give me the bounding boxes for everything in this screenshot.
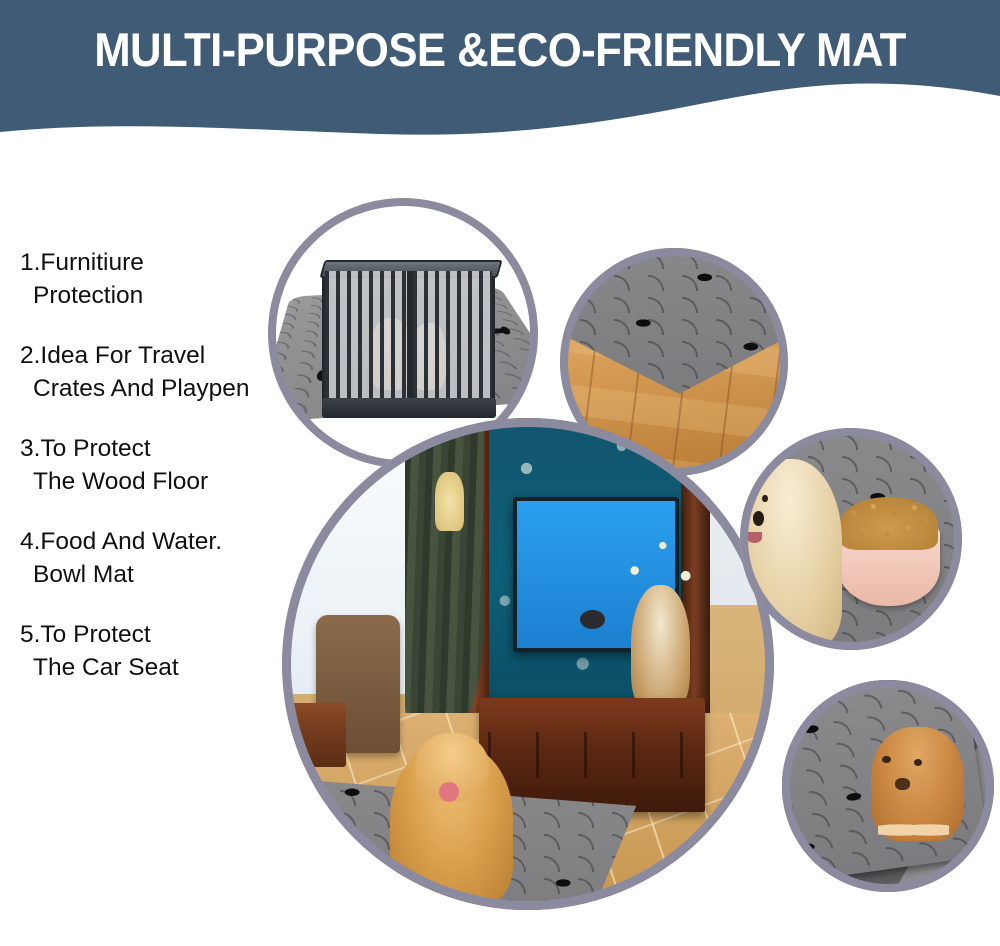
dogue-de-bordeaux-puppy [871, 727, 964, 841]
puppy-paws [878, 821, 949, 839]
dog-crate [322, 268, 495, 404]
car-seat-photo [782, 680, 994, 892]
puppy-eye-right [914, 759, 922, 766]
tv-screen-object [580, 610, 605, 629]
dog-nose [753, 511, 764, 526]
vase [631, 585, 690, 713]
tv-console [479, 698, 705, 811]
wall-lamp [435, 472, 465, 531]
puppy-eye-left [882, 756, 890, 763]
crate-divider [407, 271, 413, 401]
kibble [840, 497, 938, 550]
photo-collage [0, 150, 1000, 946]
dog-eye-left [740, 496, 746, 503]
coffee-table [282, 703, 346, 767]
puppy-nose [895, 778, 910, 789]
living-room-photo [282, 418, 774, 910]
photo-circle-living-room [282, 418, 774, 910]
golden-retriever-tongue [439, 782, 459, 802]
golden-retriever-at-bowl [740, 459, 842, 645]
crate-base [322, 398, 496, 417]
page-title: MULTI-PURPOSE &ECO-FRIENDLY MAT [35, 22, 965, 77]
photo-circle-food-bowl [740, 428, 962, 650]
dog-eye-right [762, 495, 768, 502]
food-bowl-photo [740, 428, 962, 650]
photo-circle-car-seat [782, 680, 994, 892]
dog-mouth [747, 532, 763, 543]
page-header: MULTI-PURPOSE &ECO-FRIENDLY MAT [0, 0, 1000, 140]
